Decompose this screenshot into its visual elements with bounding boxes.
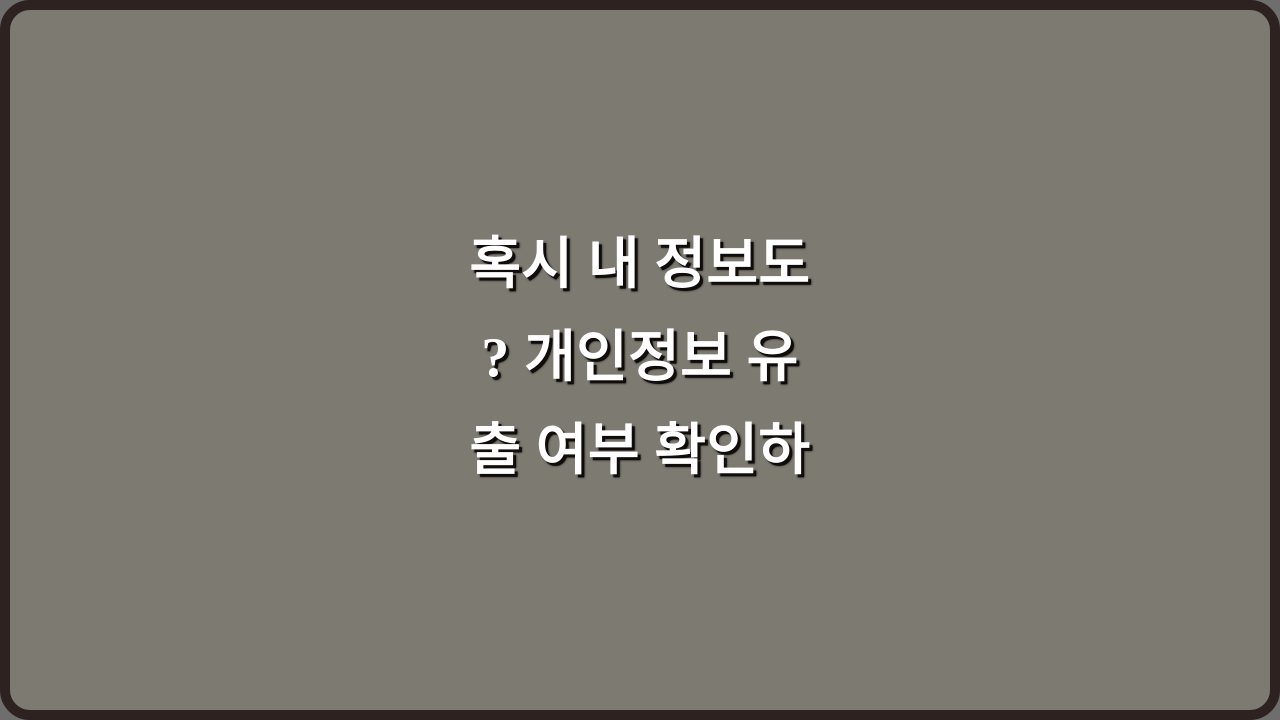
headline-line-3: 출 여부 확인하 (10, 405, 1270, 498)
headline-text-block: 혹시 내 정보도 ? 개인정보 유 출 여부 확인하 (10, 219, 1270, 502)
card-frame: 혹시 내 정보도 ? 개인정보 유 출 여부 확인하 (0, 0, 1280, 720)
headline-line-1: 혹시 내 정보도 (10, 219, 1270, 312)
headline-line-2: ? 개인정보 유 (10, 312, 1270, 405)
